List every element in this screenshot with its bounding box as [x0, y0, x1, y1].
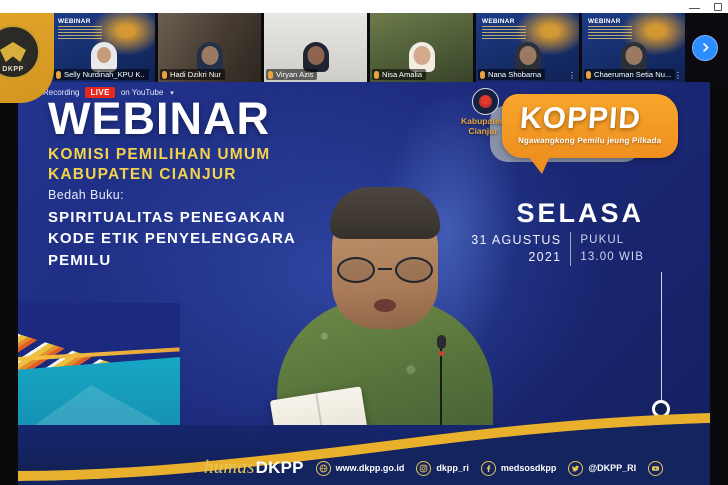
- facebook-icon: [481, 461, 496, 476]
- page-title: WEBINAR: [48, 98, 270, 141]
- participant-tile[interactable]: Chaeruman Setia Nu... ⋮: [582, 13, 685, 82]
- window-titlebar: [0, 0, 728, 13]
- avatar: [409, 42, 435, 72]
- maximize-restore-icon[interactable]: [714, 3, 722, 11]
- schedule-time: PUKUL 13.00 WIB: [580, 232, 644, 265]
- participant-tile[interactable]: Viryan Azis: [264, 13, 367, 82]
- avatar: [197, 42, 223, 72]
- koppid-tagline: Ngawangkong Pemilu jeung Pilkada: [518, 136, 662, 145]
- humas-dkpp-brand: humas DKPP: [204, 457, 304, 479]
- schedule-date-line-2: 2021: [471, 249, 561, 266]
- participant-namebar: Nana Shobarna: [478, 69, 545, 80]
- participant-tile[interactable]: Selly Nurdinah_KPU K..: [52, 13, 155, 82]
- globe-icon: [316, 461, 331, 476]
- avatar: [621, 42, 647, 72]
- schedule-date-line-1: 31 AGUSTUS: [471, 232, 561, 249]
- window-controls: [689, 0, 728, 13]
- footer-link-instagram[interactable]: dkpp_ri: [416, 461, 469, 476]
- instagram-icon: [416, 461, 431, 476]
- chevron-right-icon[interactable]: [692, 35, 718, 61]
- poster-footer: humas DKPP www.dkpp.go.id dkpp_ri: [18, 413, 710, 485]
- participant-tile[interactable]: Nana Shobarna ⋮: [476, 13, 579, 82]
- window-gutter-right: [710, 82, 728, 485]
- schedule-date: 31 AGUSTUS 2021: [471, 232, 561, 266]
- avatar: [303, 42, 329, 72]
- glasses-icon: [337, 257, 433, 283]
- schedule-time-label: PUKUL: [580, 232, 644, 249]
- footer-link-label: www.dkpp.go.id: [336, 463, 405, 473]
- participant-name: Nisa Amalia: [382, 70, 422, 79]
- participant-filmstrip: Selly Nurdinah_KPU K.. Hadi Dzikri Nur: [0, 13, 728, 82]
- schedule-time-value: 13.00 WIB: [580, 249, 644, 266]
- footer-link-youtube[interactable]: [648, 461, 668, 476]
- participant-namebar: Selly Nurdinah_KPU K..: [54, 69, 149, 80]
- participant-name: Hadi Dzikri Nur: [170, 70, 221, 79]
- participant-name: Chaeruman Setia Nu...: [594, 70, 671, 79]
- mic-muted-icon: [56, 71, 61, 79]
- participant-namebar: Nisa Amalia: [372, 69, 426, 80]
- platform-label: on YouTube: [121, 88, 163, 97]
- schedule-day: SELASA: [471, 200, 644, 227]
- mic-muted-icon: [374, 71, 379, 79]
- kpu-emblem-icon: [472, 88, 499, 115]
- footer-link-twitter[interactable]: @DKPP_RI: [568, 461, 636, 476]
- vertical-divider: [570, 232, 571, 266]
- participant-tile[interactable]: Hadi Dzikri Nur: [158, 13, 261, 82]
- twitter-icon: [568, 461, 583, 476]
- participant-tiles: Selly Nurdinah_KPU K.. Hadi Dzikri Nur: [52, 13, 685, 82]
- zoom-meeting-window: DKPP Selly Nurdinah_KPU K.. Ha: [0, 0, 728, 485]
- dkpp-logo: DKPP: [0, 13, 52, 95]
- avatar: [515, 42, 541, 72]
- footer-link-label: @DKPP_RI: [588, 463, 636, 473]
- tile-options-icon[interactable]: ⋮: [674, 73, 682, 78]
- footer-link-facebook[interactable]: medsosdkpp: [481, 461, 557, 476]
- shared-screen-stage: Recording LIVE on YouTube ▾ WEBINAR KOMI…: [18, 82, 710, 485]
- participant-name: Viryan Azis: [276, 70, 313, 79]
- mic-muted-icon: [162, 71, 167, 79]
- participant-tile[interactable]: Nisa Amalia: [370, 13, 473, 82]
- mic-muted-icon: [586, 71, 591, 79]
- brand-bold: DKPP: [256, 458, 304, 478]
- book-title-block: Bedah Buku: SPIRITUALITAS PENEGAKAN KODE…: [48, 188, 338, 271]
- speaker-hair: [330, 187, 440, 239]
- footer-link-label: dkpp_ri: [436, 463, 469, 473]
- org-line-1: KOMISI PEMILIHAN UMUM: [48, 145, 270, 165]
- participant-name: Selly Nurdinah_KPU K..: [64, 70, 145, 79]
- schedule-block: SELASA 31 AGUSTUS 2021 PUKUL 13.00 WIB: [471, 200, 644, 266]
- participant-namebar: Chaeruman Setia Nu...: [584, 69, 675, 80]
- minimize-icon[interactable]: [689, 8, 700, 9]
- mic-muted-icon: [268, 71, 273, 79]
- koppid-wordmark: KOPPID: [519, 102, 642, 136]
- garuda-shape: [479, 95, 492, 108]
- brand-script: humas: [204, 457, 255, 479]
- org-line-2: KABUPATEN CIANJUR: [48, 165, 270, 185]
- caret-down-icon[interactable]: ▾: [170, 89, 174, 97]
- footer-link-label: medsosdkpp: [501, 463, 557, 473]
- tile-options-icon[interactable]: ⋮: [568, 73, 576, 78]
- avatar: [91, 42, 117, 72]
- youtube-icon: [648, 461, 663, 476]
- koppid-brand: Kabupaten Cianjur KOPPID Ngawangkong Pem…: [450, 88, 682, 184]
- mic-muted-icon: [480, 71, 485, 79]
- seal-label: DKPP: [2, 66, 23, 73]
- poster-headline-block: WEBINAR KOMISI PEMILIHAN UMUM KABUPATEN …: [48, 98, 270, 184]
- mic-stand-graphic: [661, 272, 663, 402]
- footer-links: humas DKPP www.dkpp.go.id dkpp_ri: [18, 457, 710, 479]
- book-label: Bedah Buku:: [48, 188, 338, 202]
- window-gutter-left: [0, 82, 18, 485]
- live-badge: LIVE: [85, 87, 114, 98]
- book-title: SPIRITUALITAS PENEGAKAN KODE ETIK PENYEL…: [48, 207, 338, 271]
- participant-namebar: Viryan Azis: [266, 69, 317, 80]
- participant-name: Nana Shobarna: [488, 70, 541, 79]
- participant-namebar: Hadi Dzikri Nur: [160, 69, 225, 80]
- garuda-wing-shape: [0, 42, 26, 62]
- speaker-mouth: [374, 299, 396, 312]
- footer-link-website[interactable]: www.dkpp.go.id: [316, 461, 405, 476]
